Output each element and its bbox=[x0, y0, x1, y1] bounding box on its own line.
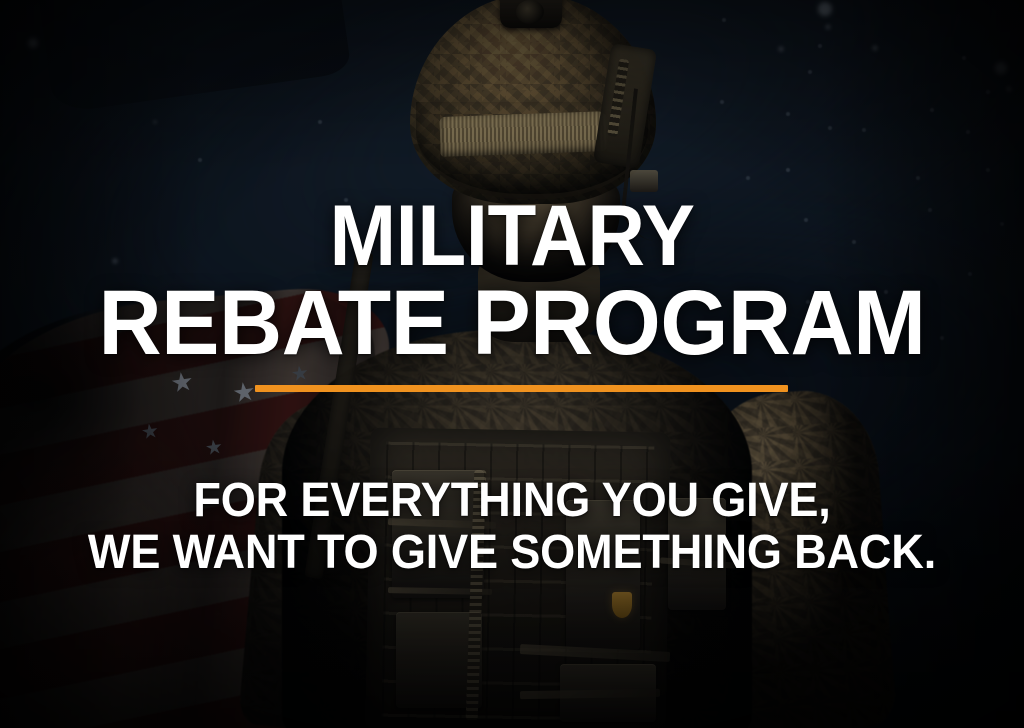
amber-accent-tab bbox=[612, 592, 632, 618]
helmet-velcro-panel bbox=[439, 111, 608, 157]
vest-pouch bbox=[566, 500, 640, 650]
vest-pouch bbox=[668, 498, 726, 610]
military-rebate-banner: MILITARY REBATE PROGRAM FOR EVERYTHING Y… bbox=[0, 0, 1024, 728]
soldier-figure bbox=[0, 0, 1024, 728]
nvg-mount-icon bbox=[500, 0, 562, 28]
helmet-patch bbox=[630, 170, 658, 192]
soldier-head bbox=[404, 0, 666, 324]
